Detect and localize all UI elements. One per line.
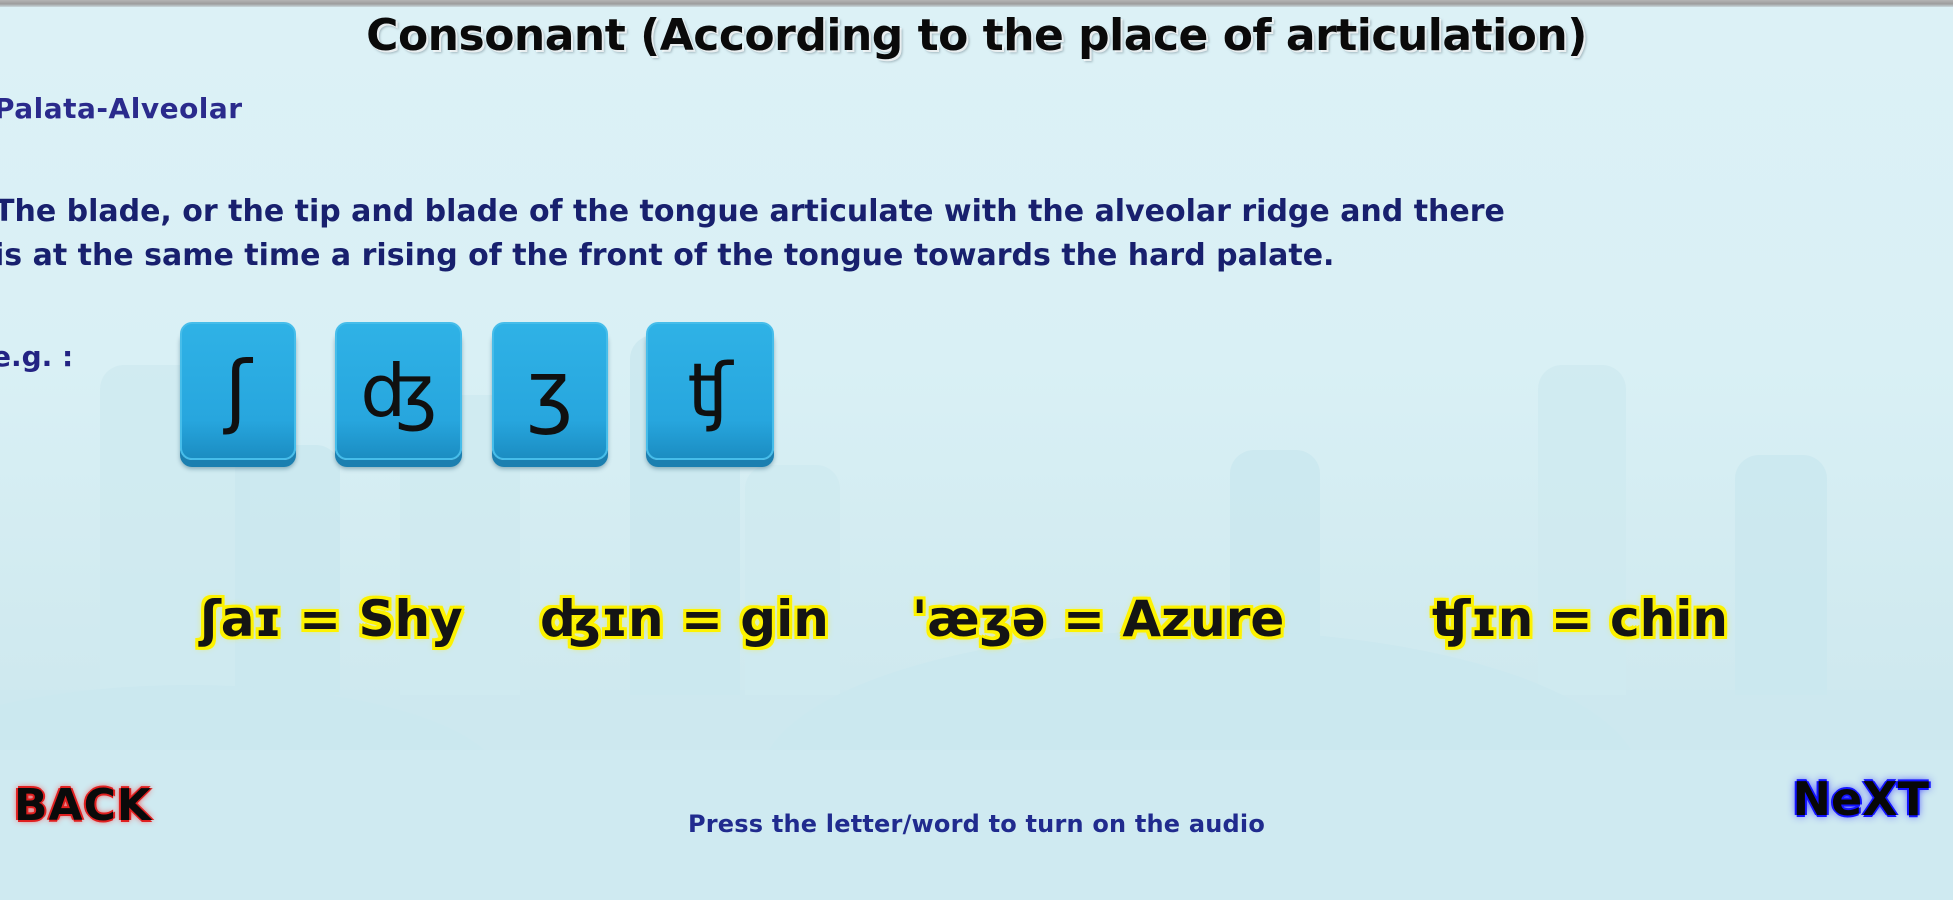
ipa-glyph: ʤ (360, 355, 436, 427)
example-word[interactable]: 'æʒə = Azure (912, 590, 1284, 648)
example-label: e.g. : (0, 340, 73, 373)
ipa-tile-t-esh-ligature[interactable]: ʧ (646, 322, 774, 460)
top-chrome-bar (0, 0, 1953, 7)
example-word[interactable]: ʃaɪ = Shy (200, 590, 463, 648)
slide-canvas: Consonant (According to the place of art… (0, 0, 1953, 900)
ipa-glyph: ʧ (687, 354, 732, 428)
ipa-tile-d-ezh-ligature[interactable]: ʤ (335, 322, 462, 460)
example-word-list: ʃaɪ = Shy ʤɪn = gin 'æʒə = Azure ʧɪn = c… (0, 590, 1953, 680)
section-subtitle: Palata-Alveolar (0, 92, 243, 125)
audio-hint-text: Press the letter/word to turn on the aud… (0, 810, 1953, 838)
slide-content: Consonant (According to the place of art… (0, 0, 1953, 900)
example-word[interactable]: ʤɪn = gin (540, 590, 829, 648)
page-title: Consonant (According to the place of art… (0, 10, 1953, 61)
ipa-tile-esh[interactable]: ʃ (180, 322, 296, 460)
ipa-tile-ezh[interactable]: ʒ (492, 322, 608, 460)
example-word[interactable]: ʧɪn = chin (1432, 590, 1728, 648)
description-text: The blade, or the tip and blade of the t… (0, 190, 1514, 277)
ipa-glyph: ʃ (225, 351, 252, 431)
ipa-glyph: ʒ (527, 351, 573, 431)
